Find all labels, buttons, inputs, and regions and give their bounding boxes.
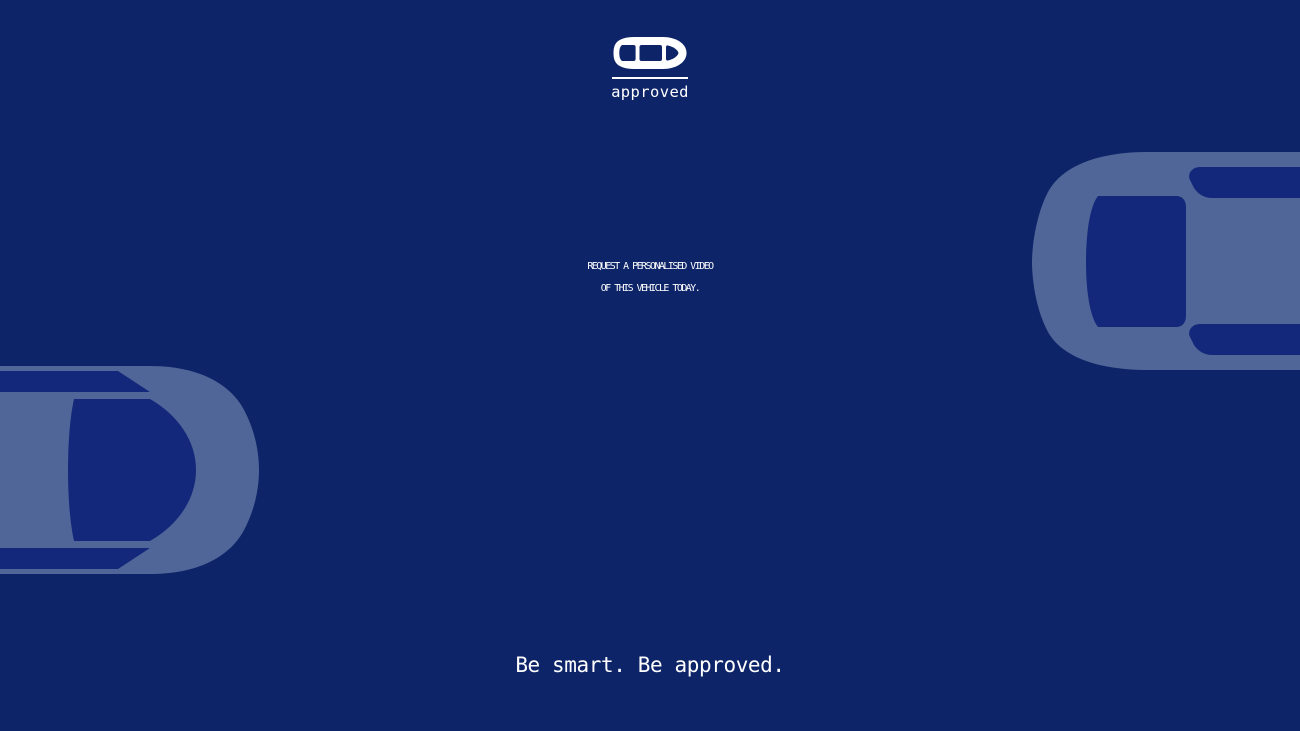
headline-line-2: OF THIS VEHICLE TODAY. xyxy=(7,284,1294,294)
tagline: Be smart. Be approved. xyxy=(0,655,1300,676)
headline-line-1: REQUEST A PERSONALISED VIDEO xyxy=(7,262,1294,272)
brand-logo-lockup: approved xyxy=(0,36,1300,101)
logo-wordmark: approved xyxy=(611,85,689,101)
headline: REQUEST A PERSONALISED VIDEO OF THIS VEH… xyxy=(0,262,1300,294)
car-silhouette-top-right xyxy=(1032,152,1300,370)
background-car-graphics xyxy=(0,0,1300,731)
logo-divider-rule xyxy=(612,77,688,79)
car-top-view-icon xyxy=(613,36,687,70)
banner-canvas: approved REQUEST A PERSONALISED VIDEO OF… xyxy=(0,0,1300,731)
car-silhouette-bottom-left xyxy=(0,366,259,574)
